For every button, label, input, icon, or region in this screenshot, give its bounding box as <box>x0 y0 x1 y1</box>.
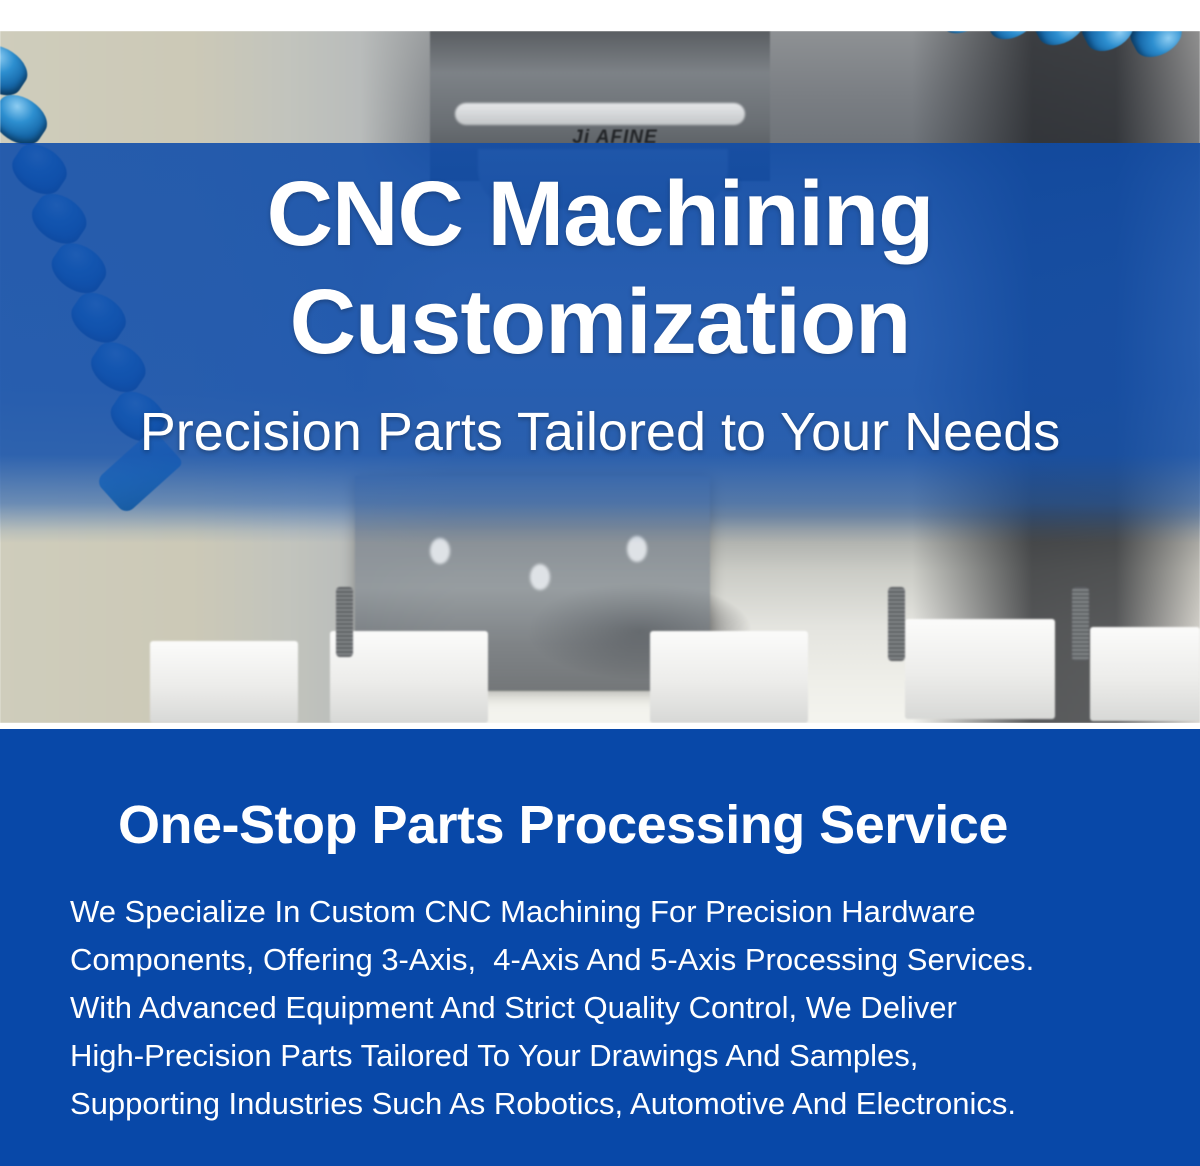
info-body-line: Supporting Industries Such As Robotics, … <box>70 1080 1130 1128</box>
spindle-band-graphic <box>455 103 745 125</box>
clamp-bolt-graphic <box>1072 587 1089 661</box>
hero-title-line-2: Customization <box>0 268 1200 376</box>
top-white-strip <box>0 0 1200 31</box>
clamp-bolt-graphic <box>888 587 905 661</box>
clamp-jaw-graphic <box>330 631 488 723</box>
info-panel-body: We Specialize In Custom CNC Machining Fo… <box>0 855 1200 1128</box>
info-body-line: Components, Offering 3-Axis, 4-Axis And … <box>70 936 1130 984</box>
hero-title-line-1: CNC Machining <box>0 160 1200 268</box>
info-panel: One-Stop Parts Processing Service We Spe… <box>0 729 1200 1166</box>
clamp-jaw-graphic <box>650 631 808 723</box>
info-body-line: High-Precision Parts Tailored To Your Dr… <box>70 1032 1130 1080</box>
clamp-jaw-graphic <box>1090 627 1200 721</box>
clamp-jaw-graphic <box>150 641 298 723</box>
cnc-machining-banner-page: Ji AFINE <box>0 0 1200 1166</box>
hero-section: Ji AFINE <box>0 0 1200 723</box>
info-panel-heading: One-Stop Parts Processing Service <box>0 729 1200 855</box>
hero-subtitle: Precision Parts Tailored to Your Needs <box>0 400 1200 464</box>
clamp-jaw-graphic <box>905 619 1055 719</box>
hero-text-block: CNC Machining Customization Precision Pa… <box>0 160 1200 464</box>
info-body-line: We Specialize In Custom CNC Machining Fo… <box>70 888 1130 936</box>
clamp-bolt-graphic <box>336 587 353 657</box>
info-body-line: With Advanced Equipment And Strict Quali… <box>70 984 1130 1032</box>
